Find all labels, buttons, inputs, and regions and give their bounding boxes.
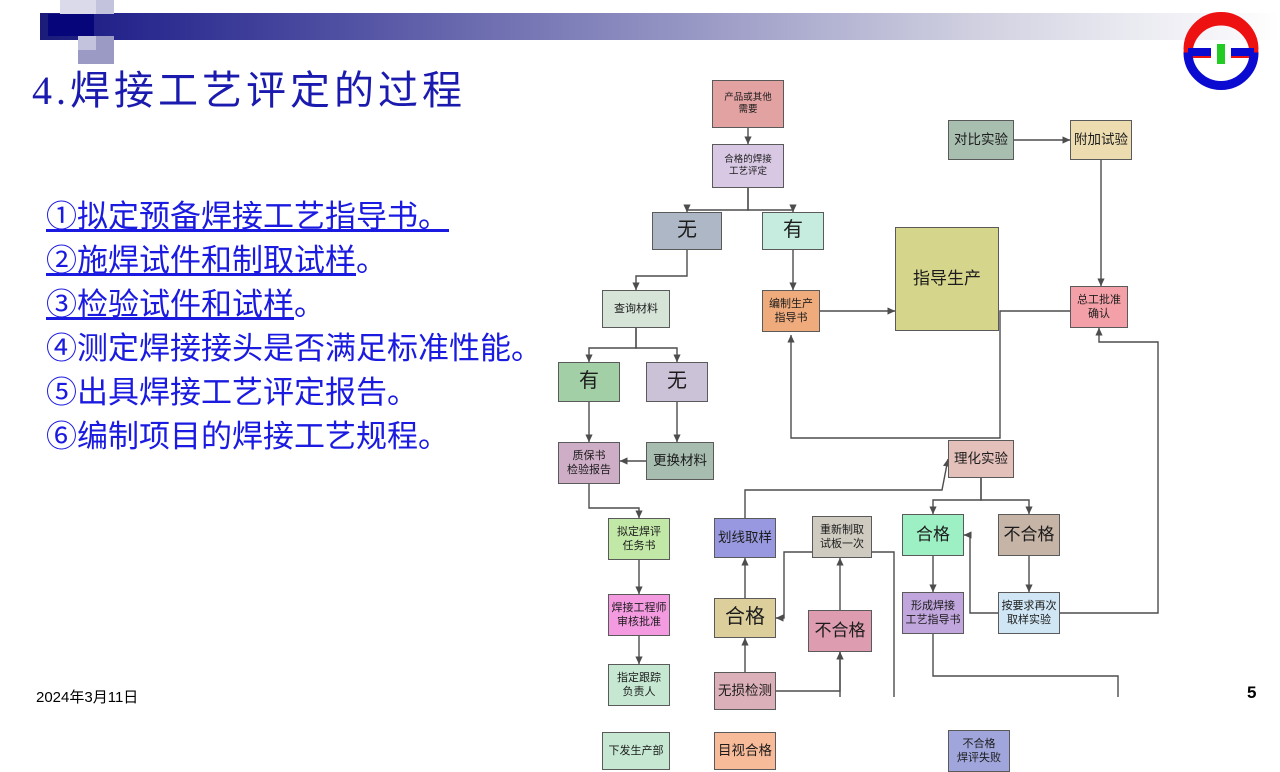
- flow-node-label: 任务书: [623, 539, 656, 553]
- list-item-3-text: ③检验试件和试样: [46, 287, 294, 322]
- flow-node-n30: 不合格焊评失败: [948, 730, 1010, 772]
- flow-node-label: 产品或其他: [724, 92, 772, 104]
- bullet-list: ①拟定预备焊接工艺指导书。 ②施焊试件和制取试样。 ③检验试件和试样。 ④测定焊…: [46, 195, 566, 459]
- banner-square-dark: [48, 14, 94, 36]
- flow-node-n3: 无: [652, 212, 722, 250]
- list-item-3: ③检验试件和试样。: [46, 283, 566, 327]
- flow-node-label: 工艺评定: [729, 166, 767, 178]
- flow-node-n13: 质保书检验报告: [558, 442, 620, 484]
- flow-node-n27: 不合格: [998, 514, 1060, 556]
- flow-node-n8: 对比实验: [948, 120, 1014, 160]
- banner-square-light-1: [78, 36, 96, 50]
- flow-edge: [589, 484, 639, 518]
- list-item-4: ④测定焊接接头是否满足标准性能。: [46, 327, 566, 371]
- flow-node-n4: 有: [762, 212, 824, 250]
- flow-node-label: 无损检测: [718, 682, 772, 699]
- flow-node-label: 重新制取: [820, 523, 864, 537]
- flow-edge: [687, 188, 748, 212]
- flow-edge: [1060, 328, 1158, 613]
- page-title: 4.焊接工艺评定的过程: [32, 58, 466, 116]
- flow-node-label: 无: [677, 218, 697, 244]
- list-item-2-tail: 。: [356, 243, 387, 278]
- flow-node-n5: 查询材料: [602, 290, 670, 328]
- list-item-1-text: ①拟定预备焊接工艺指导书。: [46, 199, 449, 234]
- list-item-1: ①拟定预备焊接工艺指导书。: [46, 195, 566, 239]
- banner-square-pale-1: [78, 0, 96, 14]
- flow-node-label: 确认: [1088, 307, 1110, 321]
- flow-node-label: 划线取样: [718, 529, 772, 546]
- flow-edge: [776, 552, 812, 618]
- flow-node-n22: 不合格: [808, 610, 872, 652]
- flow-node-n15: 拟定焊评任务书: [608, 518, 670, 560]
- flow-node-label: 指导书: [775, 311, 808, 325]
- flow-node-label: 形成焊接: [911, 599, 955, 613]
- flow-node-n28: 按要求再次取样实验: [998, 592, 1060, 634]
- flow-node-label: 质保书: [573, 449, 606, 463]
- flow-node-label: 审核批准: [617, 615, 661, 629]
- footer-date: 2024年3月11日: [36, 686, 138, 707]
- flow-node-label: 不合格: [1004, 524, 1055, 546]
- flow-edge: [589, 328, 636, 362]
- banner-gradient-bar: [40, 13, 1280, 40]
- flow-edge: [933, 634, 1118, 697]
- list-item-6: ⑥编制项目的焊接工艺规程。: [46, 415, 566, 459]
- flow-node-label: 合格的焊接: [724, 154, 772, 166]
- flow-edge: [636, 250, 687, 290]
- flow-node-n20: 重新制取试板一次: [812, 516, 872, 558]
- flow-node-n18: 下发生产部: [602, 732, 670, 770]
- flow-node-label: 合格: [916, 524, 950, 546]
- flow-node-n29: 形成焊接工艺指导书: [902, 592, 964, 634]
- flow-node-label: 下发生产部: [609, 744, 664, 758]
- flow-node-label: 查询材料: [614, 302, 658, 316]
- flow-node-label: 附加试验: [1074, 131, 1128, 148]
- flow-node-label: 不合格: [963, 737, 996, 751]
- flow-edge: [933, 478, 981, 514]
- flow-node-n14: 更换材料: [646, 442, 714, 480]
- flow-node-n2: 合格的焊接工艺评定: [712, 144, 784, 188]
- flow-node-label: 理化实验: [954, 450, 1008, 467]
- flow-node-n26: 合格: [902, 514, 964, 556]
- flow-node-n1: 产品或其他需要: [712, 80, 784, 128]
- flow-node-label: 按要求再次: [1002, 599, 1057, 613]
- flow-node-n19: 划线取样: [714, 518, 776, 558]
- flow-node-n9: 附加试验: [1070, 120, 1132, 160]
- footer-page-number: 5: [1247, 683, 1256, 703]
- flow-node-label: 焊评失败: [957, 751, 1001, 765]
- welding-process-flowchart: 产品或其他需要合格的焊接工艺评定无有查询材料编制生产指导书指导生产对比实验附加试…: [540, 72, 1280, 697]
- flow-node-label: 总工批准: [1077, 293, 1121, 307]
- flow-node-label: 对比实验: [954, 131, 1008, 148]
- banner-square-light-2: [96, 0, 114, 14]
- flow-node-label: 合格: [725, 605, 765, 631]
- flow-edge: [745, 459, 948, 518]
- list-item-2-text: ②施焊试件和制取试样: [46, 243, 356, 278]
- flow-node-n10: 总工批准确认: [1070, 286, 1128, 328]
- list-item-4-text: ④测定焊接接头是否满足标准性能。: [46, 331, 542, 366]
- banner-square-pale-2: [60, 0, 78, 14]
- flow-node-label: 负责人: [623, 685, 656, 699]
- flow-edge: [981, 478, 1029, 514]
- flow-node-n6: 编制生产指导书: [762, 290, 820, 332]
- flow-node-n23: 无损检测: [714, 672, 776, 710]
- flow-node-n7: 指导生产: [895, 227, 999, 331]
- flow-node-label: 有: [579, 369, 599, 395]
- banner-square-mid-1: [96, 36, 114, 50]
- list-item-2: ②施焊试件和制取试样。: [46, 239, 566, 283]
- list-item-5-text: ⑤出具焊接工艺评定报告。: [46, 375, 418, 410]
- flow-node-label: 工艺指导书: [906, 613, 961, 627]
- flow-node-label: 试板一次: [820, 537, 864, 551]
- flow-edge: [748, 188, 793, 212]
- flow-node-label: 焊接工程师: [612, 601, 667, 615]
- flow-node-label: 编制生产: [769, 297, 813, 311]
- flow-node-label: 无: [667, 369, 687, 395]
- flow-edge: [636, 328, 677, 362]
- flow-node-label: 有: [783, 218, 803, 244]
- list-item-3-tail: 。: [294, 287, 325, 322]
- flow-node-n17: 指定跟踪负责人: [608, 664, 670, 706]
- flow-node-label: 拟定焊评: [617, 525, 661, 539]
- flow-node-n12: 无: [646, 362, 708, 402]
- flow-node-n24: 目视合格: [714, 732, 776, 770]
- flow-node-label: 取样实验: [1007, 613, 1051, 627]
- flow-edge: [776, 652, 840, 697]
- flow-node-n21: 合格: [714, 598, 776, 638]
- flow-node-label: 检验报告: [567, 463, 611, 477]
- flow-node-label: 目视合格: [718, 742, 772, 759]
- list-item-6-text: ⑥编制项目的焊接工艺规程。: [46, 419, 449, 454]
- flow-edge: [776, 652, 840, 691]
- flow-node-label: 不合格: [815, 620, 866, 642]
- flow-node-n25: 理化实验: [948, 440, 1014, 478]
- flow-edge: [964, 535, 998, 613]
- list-item-5: ⑤出具焊接工艺评定报告。: [46, 371, 566, 415]
- flow-node-n11: 有: [558, 362, 620, 402]
- flow-node-n16: 焊接工程师审核批准: [608, 594, 670, 636]
- flow-node-label: 更换材料: [653, 452, 707, 469]
- flow-node-label: 指导生产: [913, 268, 981, 290]
- flow-node-label: 需要: [738, 104, 757, 116]
- flow-node-label: 指定跟踪: [617, 671, 661, 685]
